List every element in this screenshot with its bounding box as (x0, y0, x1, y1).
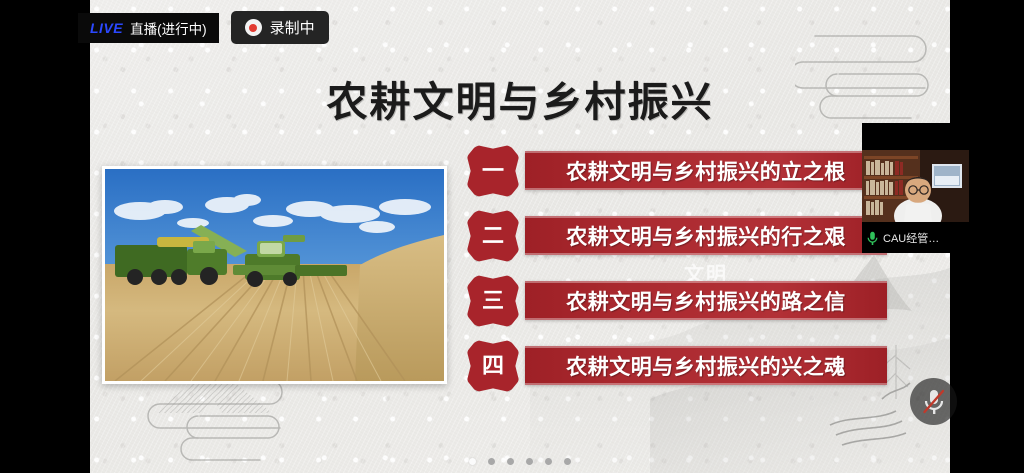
screen-root: 农耕文明与乡村振兴 (0, 0, 1024, 473)
agenda-item-3[interactable]: 三 农耕文明与乡村振兴的路之信 (467, 273, 887, 338)
agenda-number-4: 四 (482, 355, 504, 377)
agenda-item-4[interactable]: 四 农耕文明与乡村振兴的兴之魂 (467, 338, 887, 403)
agenda-text-1: 农耕文明与乡村振兴的立之根 (566, 156, 846, 186)
agenda-bar-1: 农耕文明与乡村振兴的立之根 (525, 151, 887, 190)
pagination-dot-4[interactable] (526, 458, 533, 465)
recording-status-badge[interactable]: 录制中 (231, 11, 329, 44)
pagination-dot-5[interactable] (545, 458, 552, 465)
pagination-dot-6[interactable] (564, 458, 571, 465)
pagination-dot-2[interactable] (488, 458, 495, 465)
record-dot-icon (245, 19, 262, 36)
participant-name: CAU经管… (883, 230, 939, 246)
agenda-bar-4: 农耕文明与乡村振兴的兴之魂 (525, 346, 887, 385)
live-label: LIVE (90, 20, 123, 36)
agenda-number-seal-3: 三 (467, 275, 519, 327)
microphone-muted-icon (921, 387, 947, 417)
microphone-icon (867, 231, 878, 246)
agenda-number-3: 三 (482, 290, 504, 312)
agenda-number-seal-4: 四 (467, 340, 519, 392)
agenda-number-2: 二 (482, 225, 504, 247)
presentation-slide[interactable]: 农耕文明与乡村振兴 (90, 0, 950, 473)
live-status-badge[interactable]: LIVE 直播(进行中) (78, 13, 219, 43)
video-feed-image (862, 150, 969, 222)
participant-video-feed (862, 150, 969, 222)
agenda-text-4: 农耕文明与乡村振兴的兴之魂 (566, 351, 846, 381)
agenda-text-3: 农耕文明与乡村振兴的路之信 (566, 286, 846, 316)
page-title: 农耕文明与乡村振兴 (90, 68, 950, 128)
agenda-number-seal-2: 二 (467, 210, 519, 262)
agenda-number-seal-1: 一 (467, 145, 519, 197)
live-status-text: 直播(进行中) (130, 18, 207, 38)
participant-video-tile[interactable]: CAU经管… (862, 123, 969, 253)
slide-pagination[interactable] (90, 458, 950, 465)
recording-label: 录制中 (270, 17, 315, 38)
agenda-text-2: 农耕文明与乡村振兴的行之艰 (566, 221, 846, 251)
agenda-item-2[interactable]: 二 农耕文明与乡村振兴的行之艰 文明 (467, 208, 887, 273)
agenda-bar-3: 农耕文明与乡村振兴的路之信 (525, 281, 887, 320)
slide-photo-frame (102, 166, 447, 384)
pagination-dot-1[interactable] (469, 458, 476, 465)
agenda-bar-2: 农耕文明与乡村振兴的行之艰 (525, 216, 887, 255)
pagination-dot-3[interactable] (507, 458, 514, 465)
agenda-item-1[interactable]: 一 农耕文明与乡村振兴的立之根 (467, 143, 887, 208)
participant-label: CAU经管… (867, 230, 939, 246)
wheat-harvest-photo (105, 169, 444, 381)
mute-indicator[interactable] (910, 378, 957, 425)
status-badges: LIVE 直播(进行中) 录制中 (78, 11, 329, 44)
agenda-number-1: 一 (482, 160, 504, 182)
agenda-list: 一 农耕文明与乡村振兴的立之根 二 农耕文明与乡村振兴的行之艰 文明 三 (467, 143, 887, 403)
